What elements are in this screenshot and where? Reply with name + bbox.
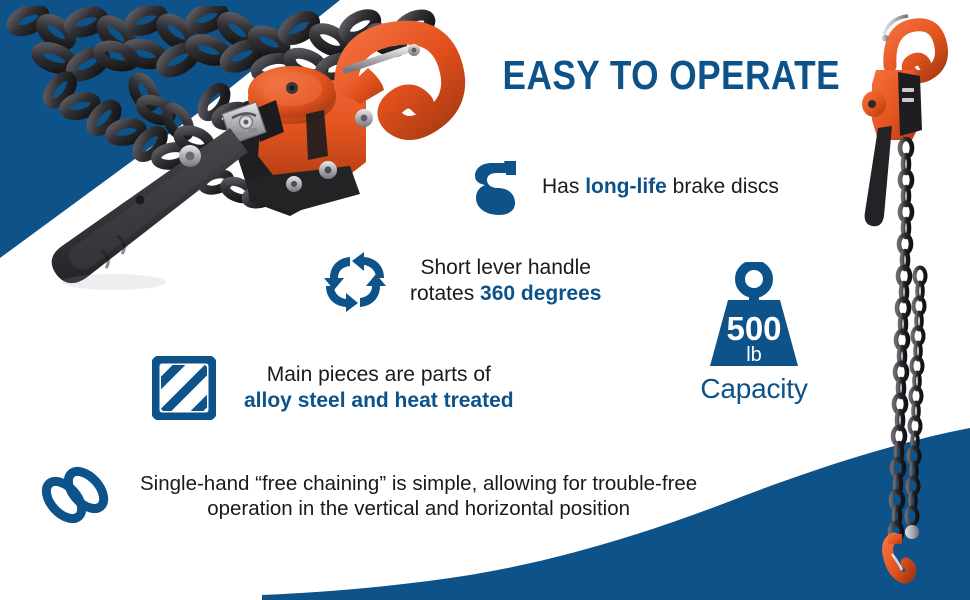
capacity-badge: 500 lb Capacity bbox=[692, 262, 816, 405]
alloy-line1: Main pieces are parts of bbox=[244, 362, 514, 388]
feature-chaining-text: Single-hand “free chaining” is simple, a… bbox=[140, 471, 697, 522]
feature-free-chaining: Single-hand “free chaining” is simple, a… bbox=[36, 462, 697, 530]
hoist-body-full bbox=[862, 70, 922, 140]
brake-prefix: Has bbox=[542, 175, 585, 198]
capacity-unit-text: lb bbox=[746, 344, 762, 366]
rotate-line2-prefix: rotates bbox=[410, 282, 480, 305]
feature-alloy-steel: Main pieces are parts of alloy steel and… bbox=[152, 356, 514, 420]
brake-suffix: brake discs bbox=[667, 175, 779, 198]
feature-lever-rotation: Short lever handle rotates 360 degrees bbox=[322, 250, 601, 312]
top-hook bbox=[882, 16, 942, 77]
rotate-line2-bold: 360 degrees bbox=[480, 282, 601, 305]
rotate-360-arrows-icon bbox=[322, 250, 388, 312]
capacity-label: Capacity bbox=[692, 373, 816, 405]
weight-icon: 500 lb bbox=[698, 262, 810, 372]
feature-alloy-text: Main pieces are parts of alloy steel and… bbox=[244, 362, 514, 414]
flexed-bicep-icon bbox=[466, 158, 524, 216]
feature-brake-discs: Has long-life brake discs bbox=[466, 158, 779, 216]
product-photo-full bbox=[828, 8, 948, 588]
infographic-banner: EASY TO OPERATE Has long-life brake disc… bbox=[0, 0, 970, 600]
feature-rotate-text: Short lever handle rotates 360 degrees bbox=[410, 255, 601, 307]
brake-bold: long-life bbox=[585, 175, 667, 198]
alloy-line2-bold: alloy steel and heat treated bbox=[244, 389, 514, 412]
hanging-chain bbox=[890, 139, 926, 541]
lever-arm-full bbox=[865, 126, 892, 226]
chaining-line2: operation in the vertical and horizontal… bbox=[140, 496, 697, 521]
bottom-hook bbox=[888, 534, 911, 578]
chain-link-icon bbox=[36, 462, 112, 530]
striped-square-icon bbox=[152, 356, 216, 420]
chaining-line1: Single-hand “free chaining” is simple, a… bbox=[140, 471, 697, 496]
feature-brake-text: Has long-life brake discs bbox=[542, 174, 779, 200]
page-title: EASY TO OPERATE bbox=[503, 52, 804, 99]
rotate-line1: Short lever handle bbox=[410, 255, 601, 281]
capacity-value-text: 500 bbox=[726, 310, 781, 347]
